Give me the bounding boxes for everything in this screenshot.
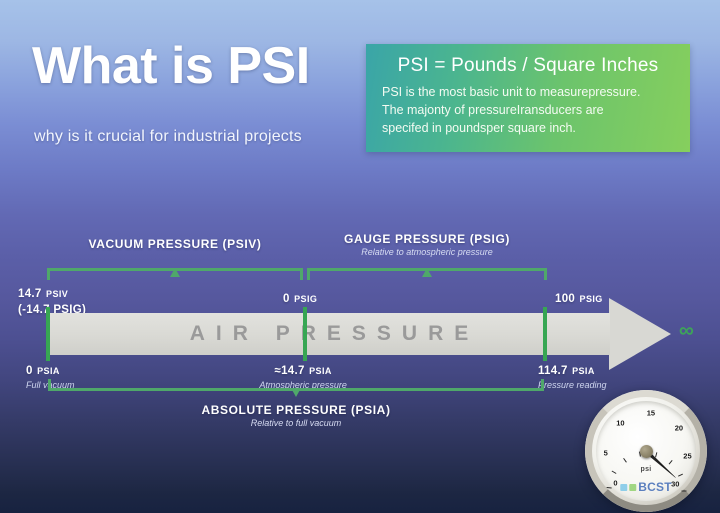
definition-body-line-1: PSI is the most basic unit to measurepre…: [382, 83, 676, 101]
bracket-cap-right: [541, 379, 544, 391]
section-label-vacuum-pressure: VACUUM PRESSURE (PSIV): [47, 237, 303, 252]
brand-square-blue: [620, 484, 627, 491]
marker-label-zero-psig: 0 PSIG: [283, 289, 317, 307]
gauge-number-0: 0: [613, 478, 617, 487]
bracket-vacuum-pressure: [47, 268, 303, 280]
marker-caption: Pressure reading: [538, 380, 607, 390]
marker-unit: PSIG: [580, 294, 603, 304]
marker-line-1: 14.7 PSIV: [18, 283, 86, 303]
tick-mark-atmospheric: [303, 307, 307, 361]
pressure-gauge-icon: 0 5 10 15 20 25 30 psi BCST: [585, 390, 707, 512]
infinity-icon: ∞: [679, 320, 694, 341]
marker-line: ≈14.7 PSIA: [259, 361, 347, 379]
section-title: VACUUM PRESSURE (PSIV): [47, 237, 303, 251]
section-title: ABSOLUTE PRESSURE (PSIA): [48, 403, 544, 417]
marker-unit: PSIA: [37, 366, 60, 376]
definition-body: PSI is the most basic unit to measurepre…: [366, 77, 690, 137]
marker-value: 0: [283, 293, 290, 305]
brand-name: BCST: [638, 480, 671, 494]
page-title: What is PSI: [32, 40, 310, 92]
marker-value: 114.7: [538, 365, 568, 377]
gauge-number-30: 30: [671, 479, 679, 488]
tick-mark-vacuum: [46, 307, 50, 361]
page-subtitle: why is it crucial for industrial project…: [34, 128, 302, 146]
bracket-cap-left: [47, 268, 50, 280]
gauge-hub: [640, 445, 653, 458]
bracket-cap-right: [544, 268, 547, 280]
marker-value: 100: [555, 293, 575, 305]
air-pressure-bar-label: AIR PRESSURE: [48, 313, 610, 355]
gauge-number-10: 10: [616, 418, 624, 427]
marker-label-atmospheric: ≈14.7 PSIA Atmospheric pressure: [259, 361, 347, 390]
tick-mark-reading: [543, 307, 547, 361]
definition-body-line-2: The majonty of pressureIransducers are: [382, 101, 676, 119]
gauge-number-15: 15: [647, 409, 655, 418]
air-pressure-bar: AIR PRESSURE: [48, 313, 610, 355]
marker-label-hundred-psig: 100 PSIG: [555, 289, 603, 307]
section-subtitle: Relative to atmospheric pressure: [307, 247, 547, 257]
bracket-pointer: [422, 268, 432, 277]
marker-unit: PSIG: [294, 294, 317, 304]
bracket-cap-right: [300, 268, 303, 280]
arrow-head-icon: [609, 298, 671, 370]
section-label-absolute-pressure: ABSOLUTE PRESSURE (PSIA) Relative to ful…: [48, 403, 544, 428]
bracket-absolute-pressure: [48, 388, 544, 400]
marker-label-pressure-reading: 114.7 PSIA Pressure reading: [538, 361, 607, 390]
bracket-pointer: [291, 388, 301, 397]
bracket-cap-left: [48, 379, 51, 391]
gauge-unit-label: psi: [640, 466, 651, 473]
infographic-canvas: What is PSI why is it crucial for indust…: [0, 0, 720, 513]
brand-watermark: BCST: [620, 480, 671, 494]
marker-value: 14.7: [18, 288, 42, 300]
marker-unit: PSIA: [309, 366, 332, 376]
section-label-gauge-pressure: GAUGE PRESSURE (PSIG) Relative to atmosp…: [307, 232, 547, 257]
section-subtitle: Relative to full vacuum: [48, 418, 544, 428]
definition-heading: PSI = Pounds / Square Inches: [366, 44, 690, 77]
gauge-number-20: 20: [675, 423, 683, 432]
definition-card: PSI = Pounds / Square Inches PSI is the …: [366, 44, 690, 152]
marker-value: ≈14.7: [275, 365, 305, 377]
gauge-number-5: 5: [604, 449, 608, 458]
marker-unit: PSIV: [46, 289, 68, 299]
definition-body-line-3: specifed in poundsper square inch.: [382, 119, 676, 137]
marker-line: 114.7 PSIA: [538, 361, 607, 379]
brand-square-green: [629, 484, 636, 491]
marker-line: 0 PSIA: [26, 361, 75, 379]
bracket-cap-left: [307, 268, 310, 280]
bracket-pointer: [170, 268, 180, 277]
bracket-gauge-pressure: [307, 268, 547, 280]
section-title: GAUGE PRESSURE (PSIG): [307, 232, 547, 246]
marker-unit: PSIA: [572, 366, 595, 376]
marker-value: 0: [26, 365, 33, 377]
gauge-number-25: 25: [683, 451, 691, 460]
